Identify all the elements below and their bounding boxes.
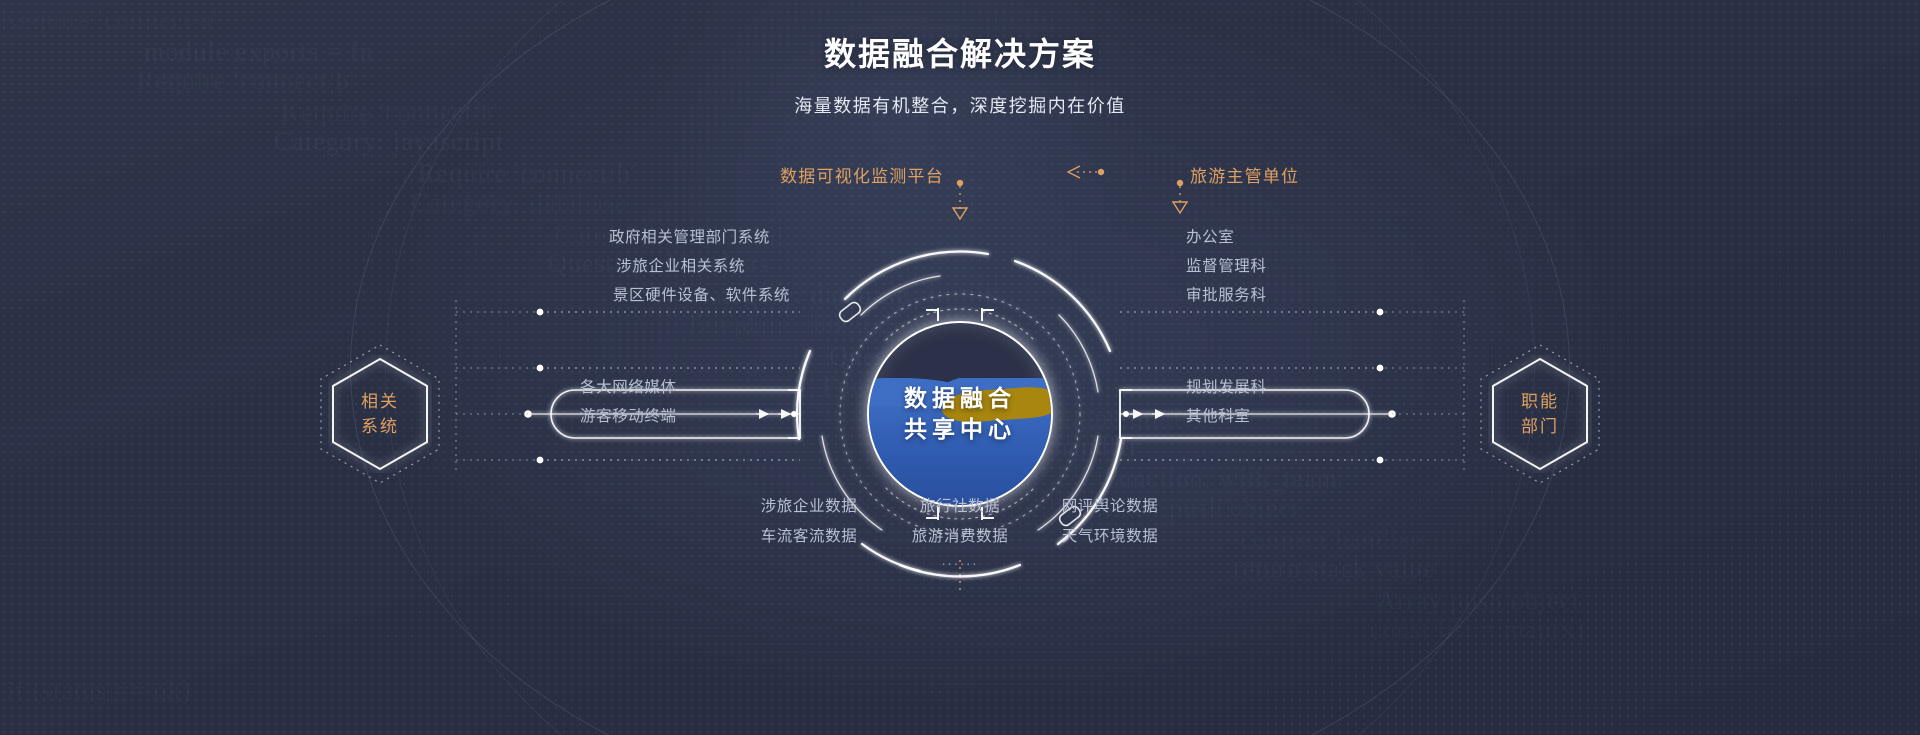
label-left-bottom-1[interactable]: 游客移动终端 (580, 404, 677, 426)
label-right-top-0[interactable]: 办公室 (1186, 225, 1234, 247)
label-bottom-5[interactable]: 天气环境数据 (1062, 524, 1159, 546)
core-label-line1: 数据融合 (830, 383, 1090, 414)
hex-left-line2: 系统 (315, 414, 445, 439)
label-left-bottom-0[interactable]: 各大网络媒体 (580, 375, 677, 397)
page-header: 数据融合解决方案 海量数据有机整合，深度挖掘内在价值 (0, 34, 1920, 118)
hex-right-line2: 部门 (1475, 414, 1605, 439)
hex-left-line1: 相关 (315, 389, 445, 414)
page-title: 数据融合解决方案 (0, 34, 1920, 74)
label-bottom-0[interactable]: 涉旅企业数据 (761, 494, 858, 516)
label-tourism-authority[interactable]: 旅游主管单位 (1190, 162, 1299, 187)
node-functional-departments[interactable]: 职能 部门 (1475, 344, 1605, 484)
label-bottom-3[interactable]: 车流客流数据 (761, 524, 858, 546)
node-related-systems[interactable]: 相关 系统 (315, 344, 445, 484)
hex-right-line1: 职能 (1475, 389, 1605, 414)
core-label-line2: 共享中心 (830, 414, 1090, 445)
label-right-top-1[interactable]: 监督管理科 (1186, 254, 1267, 276)
label-bottom-1[interactable]: 旅行社数据 (920, 494, 1001, 516)
page-subtitle: 海量数据有机整合，深度挖掘内在价值 (0, 92, 1920, 118)
core-label: 数据融合 共享中心 (830, 383, 1090, 445)
label-right-bottom-0[interactable]: 规划发展科 (1186, 375, 1267, 397)
label-visualization-platform[interactable]: 数据可视化监测平台 (780, 162, 944, 187)
label-bottom-4[interactable]: 旅游消费数据 (912, 524, 1009, 546)
label-right-bottom-1[interactable]: 其他科室 (1186, 404, 1250, 426)
label-left-top-1[interactable]: 涉旅企业相关系统 (616, 254, 745, 276)
node-functional-departments-label: 职能 部门 (1475, 389, 1605, 439)
node-related-systems-label: 相关 系统 (315, 389, 445, 439)
label-right-top-2[interactable]: 审批服务科 (1186, 283, 1267, 305)
label-bottom-2[interactable]: 网评舆论数据 (1062, 494, 1159, 516)
label-left-top-2[interactable]: 景区硬件设备、软件系统 (613, 283, 790, 305)
label-bottom-ellipsis: ...... (941, 552, 978, 569)
label-left-top-0[interactable]: 政府相关管理部门系统 (609, 225, 770, 247)
